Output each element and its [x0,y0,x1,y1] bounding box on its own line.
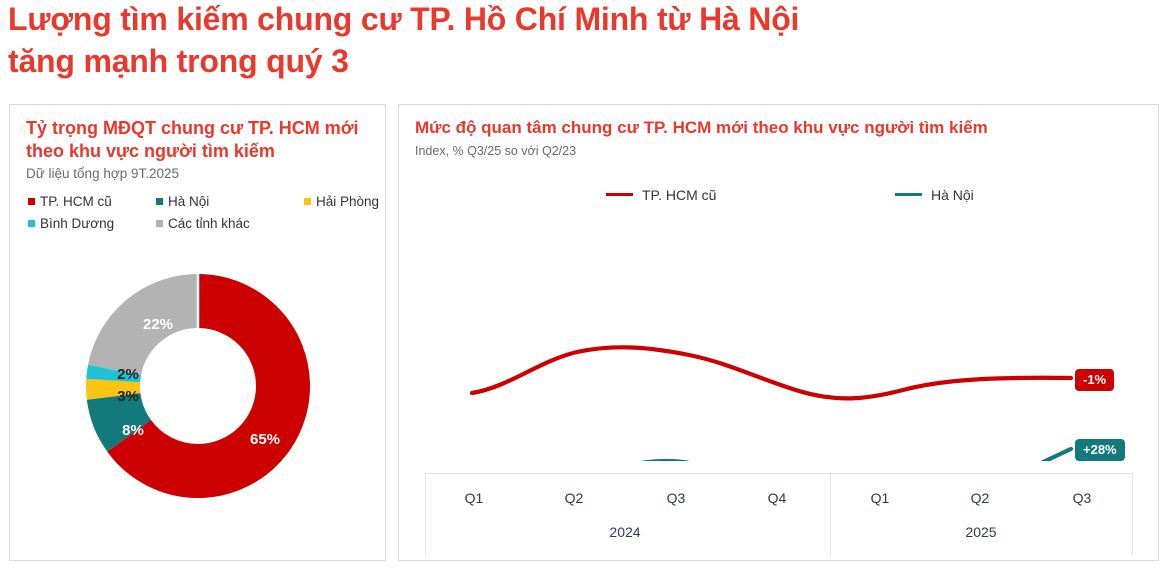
line-series-ha-noi [472,449,1071,461]
legend-label: Hà Nội [931,187,974,203]
legend-item-tp-hcm-cu: TP. HCM cũ [606,185,716,205]
donut-label-hai-phong: 3% [117,388,139,405]
line-chart-title: Mức độ quan tâm chung cư TP. HCM mới the… [415,117,988,139]
donut-label-ha-noi: 8% [122,422,144,439]
legend-label: Các tỉnh khác [168,216,250,231]
legend-swatch-icon [156,198,163,205]
legend-label: Hải Phòng [316,194,379,209]
donut-chart-panel: Tỷ trọng MĐQT chung cư TP. HCM mới theo … [9,104,386,561]
axis-tick-q3-2024: Q3 [656,490,696,506]
legend-line-icon [606,193,633,196]
donut-chart-subtitle: Dữ liệu tổng hợp 9T.2025 [26,165,179,183]
donut-chart-title: Tỷ trọng MĐQT chung cư TP. HCM mới theo … [26,117,371,163]
donut-chart: 65% 8% 3% 2% 22% [10,255,385,555]
axis-tick-q2-2024: Q2 [554,490,594,506]
legend-swatch-icon [28,220,35,227]
legend-item-tp-hcm-cu: TP. HCM cũ [28,191,156,213]
line-series-tp-hcm-cu [472,347,1071,398]
legend-item-cac-tinh-khac: Các tỉnh khác [156,213,304,235]
donut-legend-row-1: TP. HCM cũ Hà Nội Hải Phòng [28,191,378,213]
line-chart-subtitle: Index, % Q3/25 so với Q2/23 [415,143,576,160]
legend-swatch-icon [28,198,35,205]
legend-label: Hà Nội [168,194,209,209]
axis-tick-q2-2025: Q2 [960,490,1000,506]
axis-year-2025: 2025 [946,524,1016,540]
legend-label: Bình Dương [40,216,114,231]
legend-item-ha-noi: Hà Nội [895,185,974,205]
data-label-ha-noi: +28% [1075,439,1125,461]
data-label-tp-hcm-cu: -1% [1075,369,1114,391]
legend-swatch-icon [304,198,311,205]
line-chart-x-axis: Q1 Q2 Q3 Q4 Q1 Q2 Q3 2024 2025 [425,473,1133,555]
legend-line-icon [895,193,922,196]
line-chart-legend: TP. HCM cũ Hà Nội [399,185,1158,209]
line-chart-svg [399,211,1158,461]
donut-chart-legend: TP. HCM cũ Hà Nội Hải Phòng Bình Dương C… [28,191,378,235]
axis-year-divider [830,474,831,556]
page-title: Lượng tìm kiếm chung cư TP. Hồ Chí Minh … [8,0,1058,82]
page-title-line-1: Lượng tìm kiếm chung cư TP. Hồ Chí Minh … [8,0,1058,40]
donut-label-cac-tinh-khac: 22% [143,316,173,333]
axis-year-2024: 2024 [590,524,660,540]
legend-swatch-icon [156,220,163,227]
axis-tick-q1-2025: Q1 [860,490,900,506]
donut-label-tp-hcm-cu: 65% [250,431,280,448]
axis-tick-q4-2024: Q4 [757,490,797,506]
page-title-line-2: tăng mạnh trong quý 3 [8,40,1058,82]
legend-item-ha-noi: Hà Nội [156,191,304,213]
donut-legend-row-2: Bình Dương Các tỉnh khác [28,213,378,235]
legend-item-binh-duong: Bình Dương [28,213,156,235]
line-chart-plot: -1% +28% [399,211,1158,461]
line-chart-panel: Mức độ quan tâm chung cư TP. HCM mới the… [398,104,1159,561]
axis-tick-q1-2024: Q1 [454,490,494,506]
axis-tick-q3-2025: Q3 [1062,490,1102,506]
donut-chart-title-line-1: Tỷ trọng MĐQT chung cư TP. HCM [26,118,320,138]
legend-label: TP. HCM cũ [40,194,112,209]
donut-chart-svg: 65% 8% 3% 2% 22% [78,261,318,511]
infographic-page: Lượng tìm kiếm chung cư TP. Hồ Chí Minh … [0,0,1170,569]
donut-label-binh-duong: 2% [117,366,139,383]
legend-label: TP. HCM cũ [642,187,716,203]
